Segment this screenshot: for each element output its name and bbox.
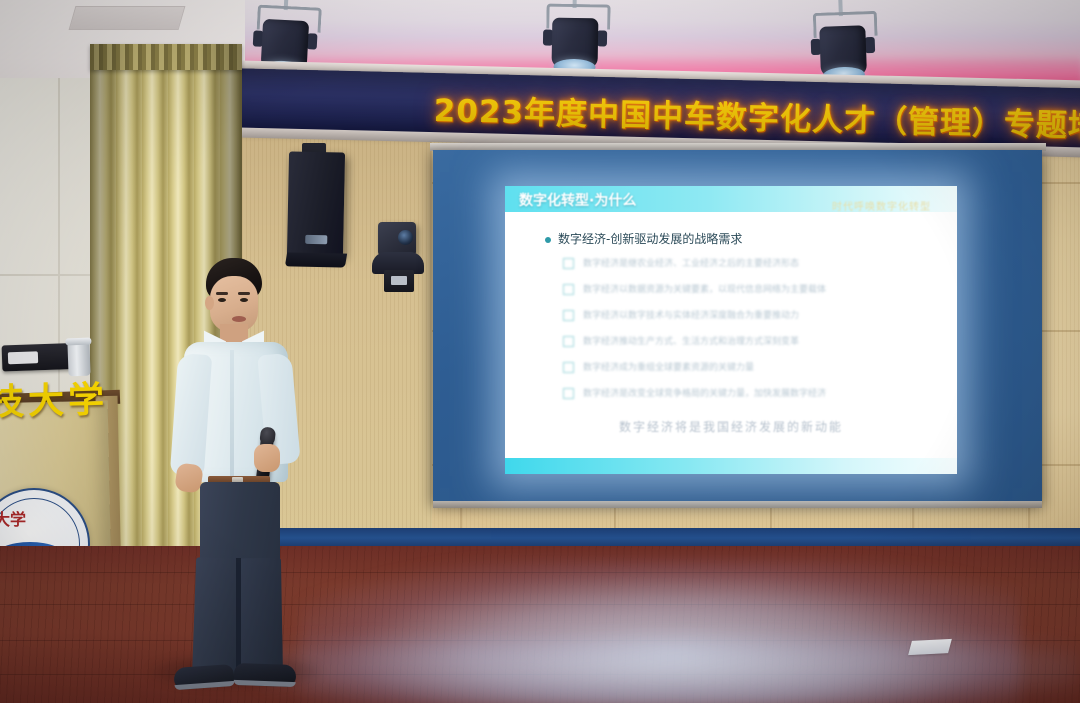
screen-bottom-rail	[433, 501, 1042, 508]
presenter-shirt-placket	[230, 350, 234, 478]
list-item: 数字经济是改变全球竞争格局的关键力量，加快发展数字经济	[563, 386, 943, 412]
projected-slide: 数字化转型·为什么 时代呼唤数字化转型 数字经济-创新驱动发展的战略需求 数字经…	[505, 186, 957, 474]
slide-main-bullet-text: 数字经济-创新驱动发展的战略需求	[558, 232, 742, 246]
slide-header-title: 数字化转型·为什么	[519, 190, 636, 210]
cup-lid	[65, 338, 91, 346]
speaker-logo-icon	[305, 235, 327, 244]
slide-bottom-note: 数字经济将是我国经济发展的新动能	[505, 418, 957, 435]
list-item-text: 数字经济成为重组全球要素资源的关键力量	[583, 363, 754, 373]
presenter-right-shoe	[234, 663, 297, 687]
list-item: 数字经济以数字技术与实体经济深度融合为重要推动力	[563, 308, 943, 334]
presenter-leg-split	[236, 558, 241, 678]
checkbox-icon	[563, 284, 574, 295]
slide-sub-list: 数字经济是继农业经济、工业经济之后的主要经济形态 数字经济以数据资源为关键要素，…	[563, 256, 943, 412]
ptz-camera	[378, 222, 416, 256]
presenter-right-leg	[239, 558, 283, 681]
slide-footer-bar	[505, 458, 957, 474]
presenter-brow	[238, 292, 250, 295]
curtain-header-rail	[90, 44, 242, 70]
projector-light-pool-secondary	[260, 640, 1080, 703]
list-item-text: 数字经济是改变全球竞争格局的关键力量，加快发展数字经济	[583, 389, 826, 399]
checkbox-icon	[563, 336, 574, 347]
ceiling-vent	[69, 6, 186, 30]
list-item: 数字经济成为重组全球要素资源的关键力量	[563, 360, 943, 386]
slide-main-bullet: 数字经济-创新驱动发展的战略需求	[545, 230, 742, 247]
wall-speaker	[287, 151, 345, 256]
stage-spotlight-icon	[537, 3, 612, 76]
checkbox-icon	[563, 258, 574, 269]
presenter-left-shoe	[173, 664, 234, 690]
checkbox-icon	[563, 388, 574, 399]
presenter-right-hand	[254, 444, 280, 472]
camera-mount	[384, 270, 414, 292]
list-item-text: 数字经济以数据资源为关键要素，以现代信息网络为主要载体	[583, 285, 826, 295]
list-item: 数字经济以数据资源为关键要素，以现代信息网络为主要载体	[563, 282, 943, 308]
checkbox-icon	[563, 310, 574, 321]
bullet-dot-icon	[545, 237, 551, 243]
presenter-mouth	[232, 316, 246, 322]
emblem-cn-text: 大学	[0, 506, 26, 530]
shoe-sole	[234, 680, 296, 687]
camera-mount-plate	[391, 276, 407, 285]
paper-on-floor	[908, 639, 952, 655]
presenter-ear	[205, 296, 214, 310]
camera-lens-icon	[398, 230, 413, 245]
checkbox-icon	[563, 362, 574, 373]
presenter-eye	[218, 298, 226, 302]
presenter	[150, 258, 330, 688]
slide-watermark: 时代呼唤数字化转型	[832, 198, 931, 213]
list-item-text: 数字经济是继农业经济、工业经济之后的主要经济形态	[583, 259, 799, 269]
podium-institution-name: 技大学	[0, 370, 109, 425]
list-item-text: 数字经济以数字技术与实体经济深度融合为重要推动力	[583, 311, 799, 321]
presenter-eye	[240, 298, 248, 302]
podium-device-label	[8, 351, 38, 364]
list-item: 数字经济推动生产方式、生活方式和治理方式深刻变革	[563, 334, 943, 360]
list-item-text: 数字经济推动生产方式、生活方式和治理方式深刻变革	[583, 337, 799, 347]
presenter-left-leg	[192, 557, 240, 682]
list-item: 数字经济是继农业经济、工业经济之后的主要经济形态	[563, 256, 943, 282]
lecture-hall-photo: 2023年度中国中车数字化人才（管理）专题培训 数字化转型·为什么 时代呼唤数字…	[0, 0, 1080, 703]
presenter-brow	[216, 292, 228, 295]
